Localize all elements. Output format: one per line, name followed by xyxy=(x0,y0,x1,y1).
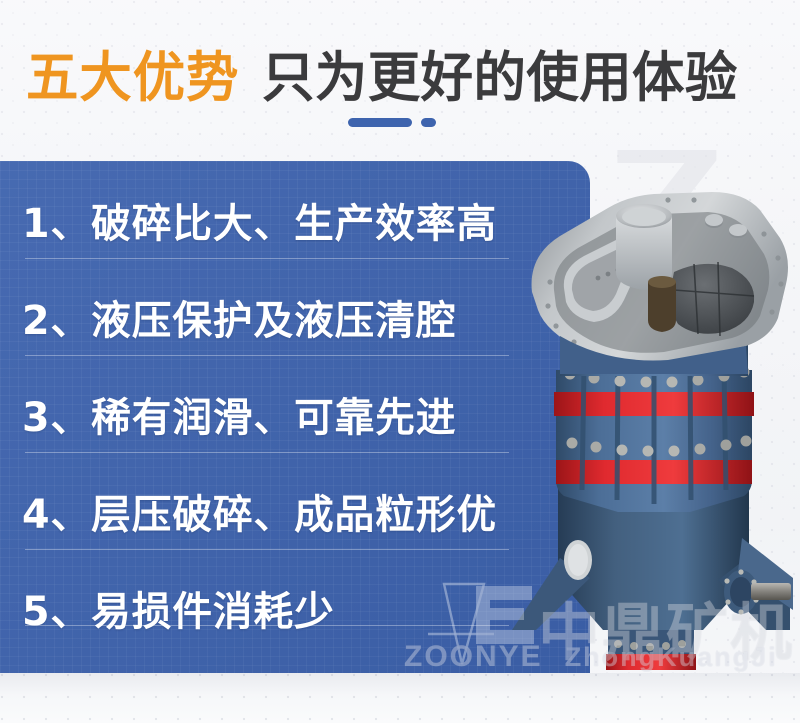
feature-text-4: 4、层压破碎、成品粒形优 xyxy=(22,482,497,540)
page-title: 五大优势 只为更好的使用体验 xyxy=(26,33,753,112)
title-divider xyxy=(348,118,436,127)
feature-text-3: 3、稀有润滑、可靠先进 xyxy=(22,385,456,443)
list-separator xyxy=(25,452,509,453)
title-rest: 只为更好的使用体验 xyxy=(262,33,738,112)
feature-text-1: 1、破碎比大、生产效率高 xyxy=(22,191,497,249)
title-highlight: 五大优势 xyxy=(26,33,239,112)
divider-dot-icon xyxy=(421,118,436,127)
crusher-bottom-red-ring xyxy=(606,654,696,670)
divider-bar-icon xyxy=(348,118,412,127)
list-item: 2、液压保护及液压清腔 xyxy=(22,268,512,365)
list-separator xyxy=(25,258,509,259)
bottom-strip-dots xyxy=(0,673,800,723)
list-separator xyxy=(25,355,509,356)
feature-text-2: 2、液压保护及液压清腔 xyxy=(22,288,456,346)
list-item: 5、易损件消耗少 xyxy=(22,559,512,656)
product-image-cone-crusher xyxy=(498,160,800,705)
mantle-shaft xyxy=(648,282,676,332)
list-item: 3、稀有润滑、可靠先进 xyxy=(22,365,512,462)
drive-shaft xyxy=(751,583,791,600)
feature-text-5: 5、易损件消耗少 xyxy=(22,579,335,637)
list-item: 4、层压破碎、成品粒形优 xyxy=(22,462,512,559)
list-separator xyxy=(25,625,509,626)
bottom-strip xyxy=(0,673,800,723)
list-separator xyxy=(25,549,509,550)
promo-banner: Z E 五大优势 只为更好的使用体验 1、破碎比大、生产效率高 2、液压保护及液… xyxy=(0,0,800,723)
list-item: 1、破碎比大、生产效率高 xyxy=(22,171,512,268)
banner-header: 五大优势 只为更好的使用体验 xyxy=(0,0,800,160)
